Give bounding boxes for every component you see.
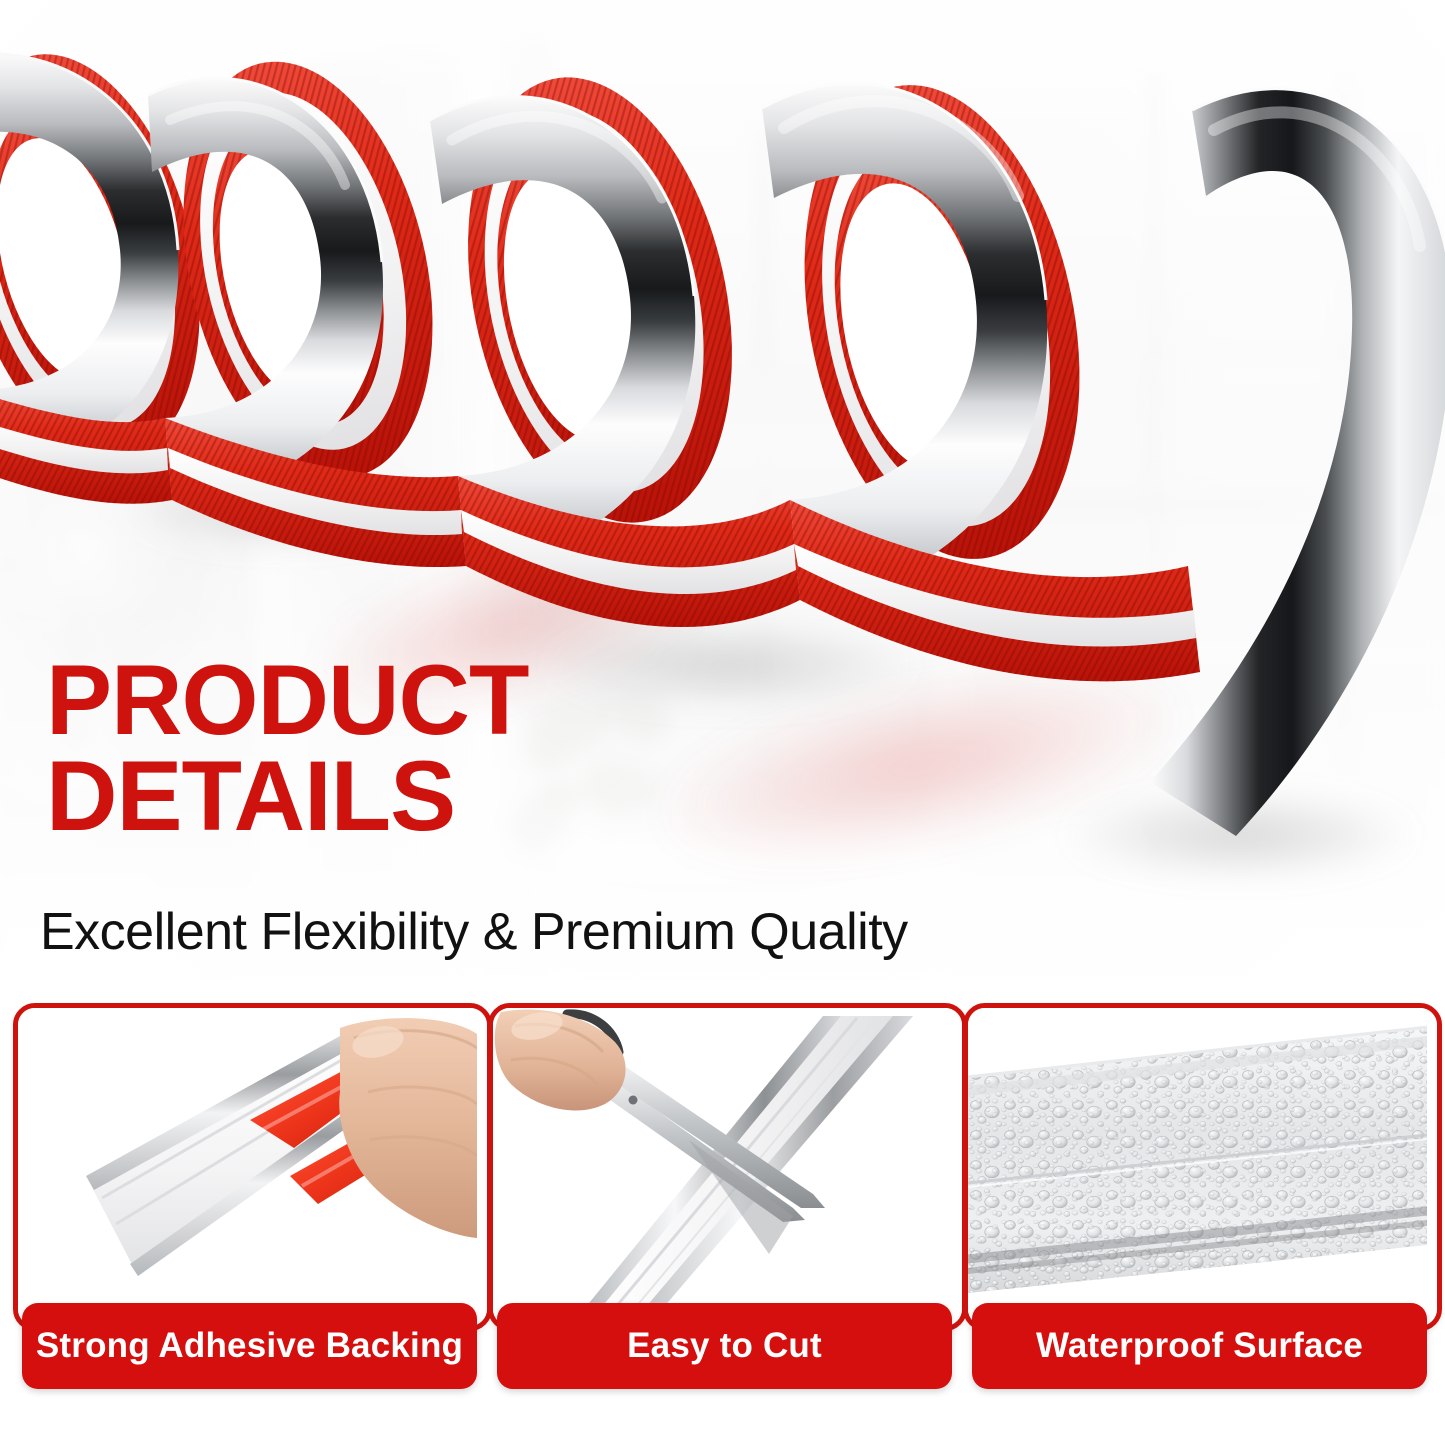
page-subtitle: Excellent Flexibility & Premium Quality xyxy=(40,902,908,962)
feature-caption-label: Waterproof Surface xyxy=(1036,1326,1363,1366)
adhesive-peel-photo xyxy=(18,1008,487,1326)
feature-caption-easy-to-cut: Easy to Cut xyxy=(497,1303,952,1389)
feature-caption-strong-adhesive-backing: Strong Adhesive Backing xyxy=(22,1303,477,1389)
water-droplets-photo xyxy=(968,1008,1437,1326)
product-detail-image: PRODUCT DETAILS Excellent Flexibility & … xyxy=(0,0,1445,1445)
feature-caption-label: Strong Adhesive Backing xyxy=(36,1326,463,1366)
page-title-line-2: DETAILS xyxy=(46,748,866,844)
feature-panel-easy-to-cut xyxy=(488,1003,967,1331)
feature-panel-row: Strong Adhesive Backing Easy to Cut Wate… xyxy=(0,1003,1445,1445)
feature-caption-label: Easy to Cut xyxy=(627,1326,822,1366)
page-title-line-1: PRODUCT xyxy=(46,652,866,748)
feature-panel-strong-adhesive-backing xyxy=(13,1003,492,1331)
scissors-cut-photo xyxy=(493,1008,962,1326)
feature-panel-waterproof-surface xyxy=(963,1003,1442,1331)
feature-caption-waterproof-surface: Waterproof Surface xyxy=(972,1303,1427,1389)
page-title: PRODUCT DETAILS xyxy=(46,652,866,844)
